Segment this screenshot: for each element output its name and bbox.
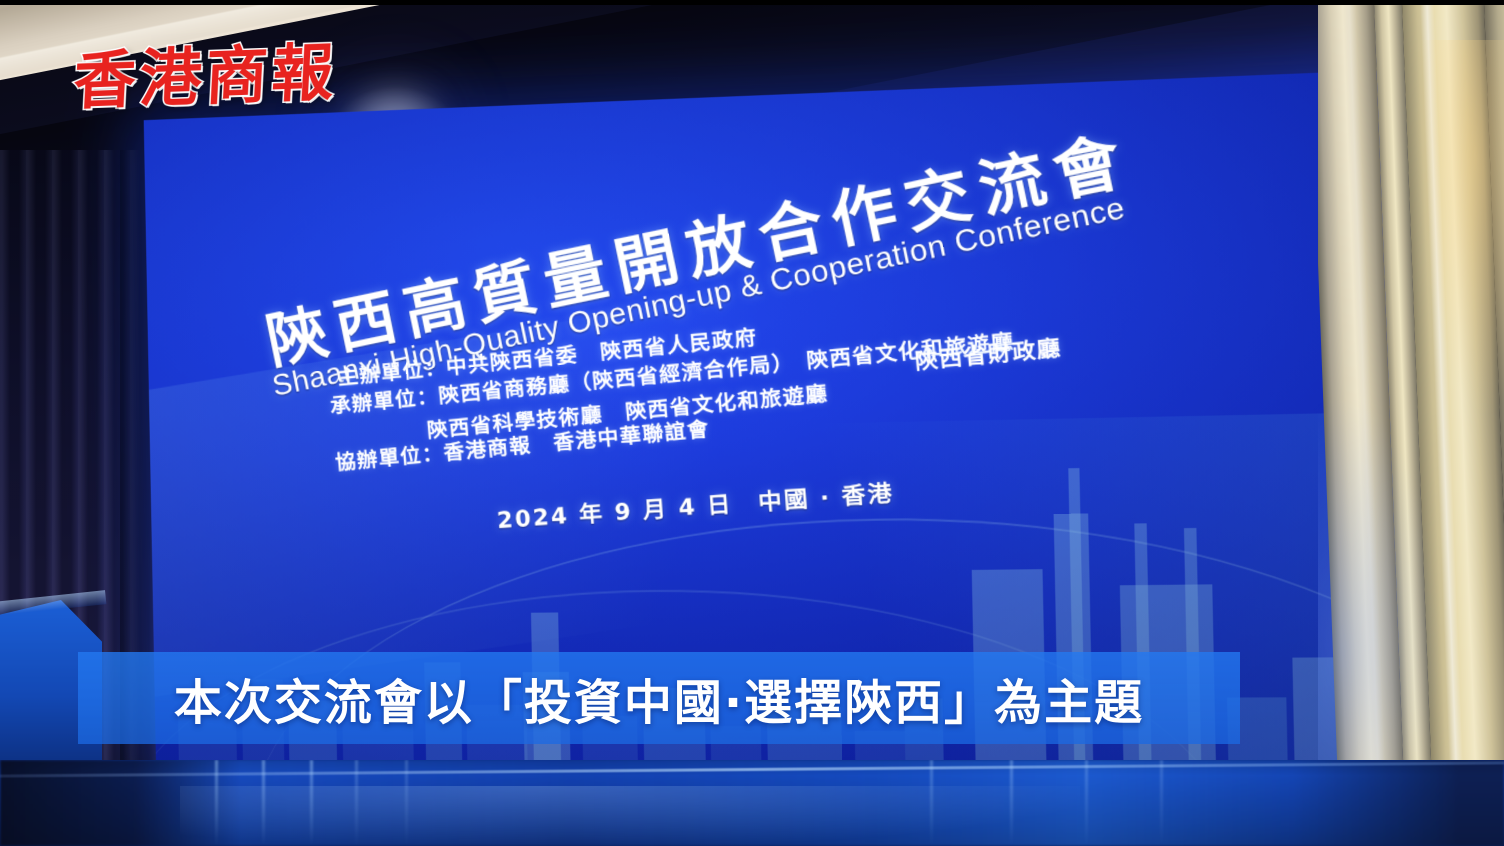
gold-columns <box>1318 0 1504 846</box>
letterbox-top <box>0 0 1504 5</box>
subtitle-caption-text: 本次交流會以「投資中國·選擇陝西」為主題 <box>174 663 1144 733</box>
publisher-watermark: 香港商報 <box>72 21 341 120</box>
column-cool-light <box>1318 400 1438 820</box>
floor-gloss <box>180 786 1080 846</box>
column-warm-light <box>1411 40 1504 420</box>
subtitle-caption-band: 本次交流會以「投資中國·選擇陝西」為主題 <box>78 652 1240 744</box>
stage-floor <box>0 760 1504 846</box>
conference-stage-photo: 陝西高質量開放合作交流會 Shaanxi High-Quality Openin… <box>0 0 1504 846</box>
